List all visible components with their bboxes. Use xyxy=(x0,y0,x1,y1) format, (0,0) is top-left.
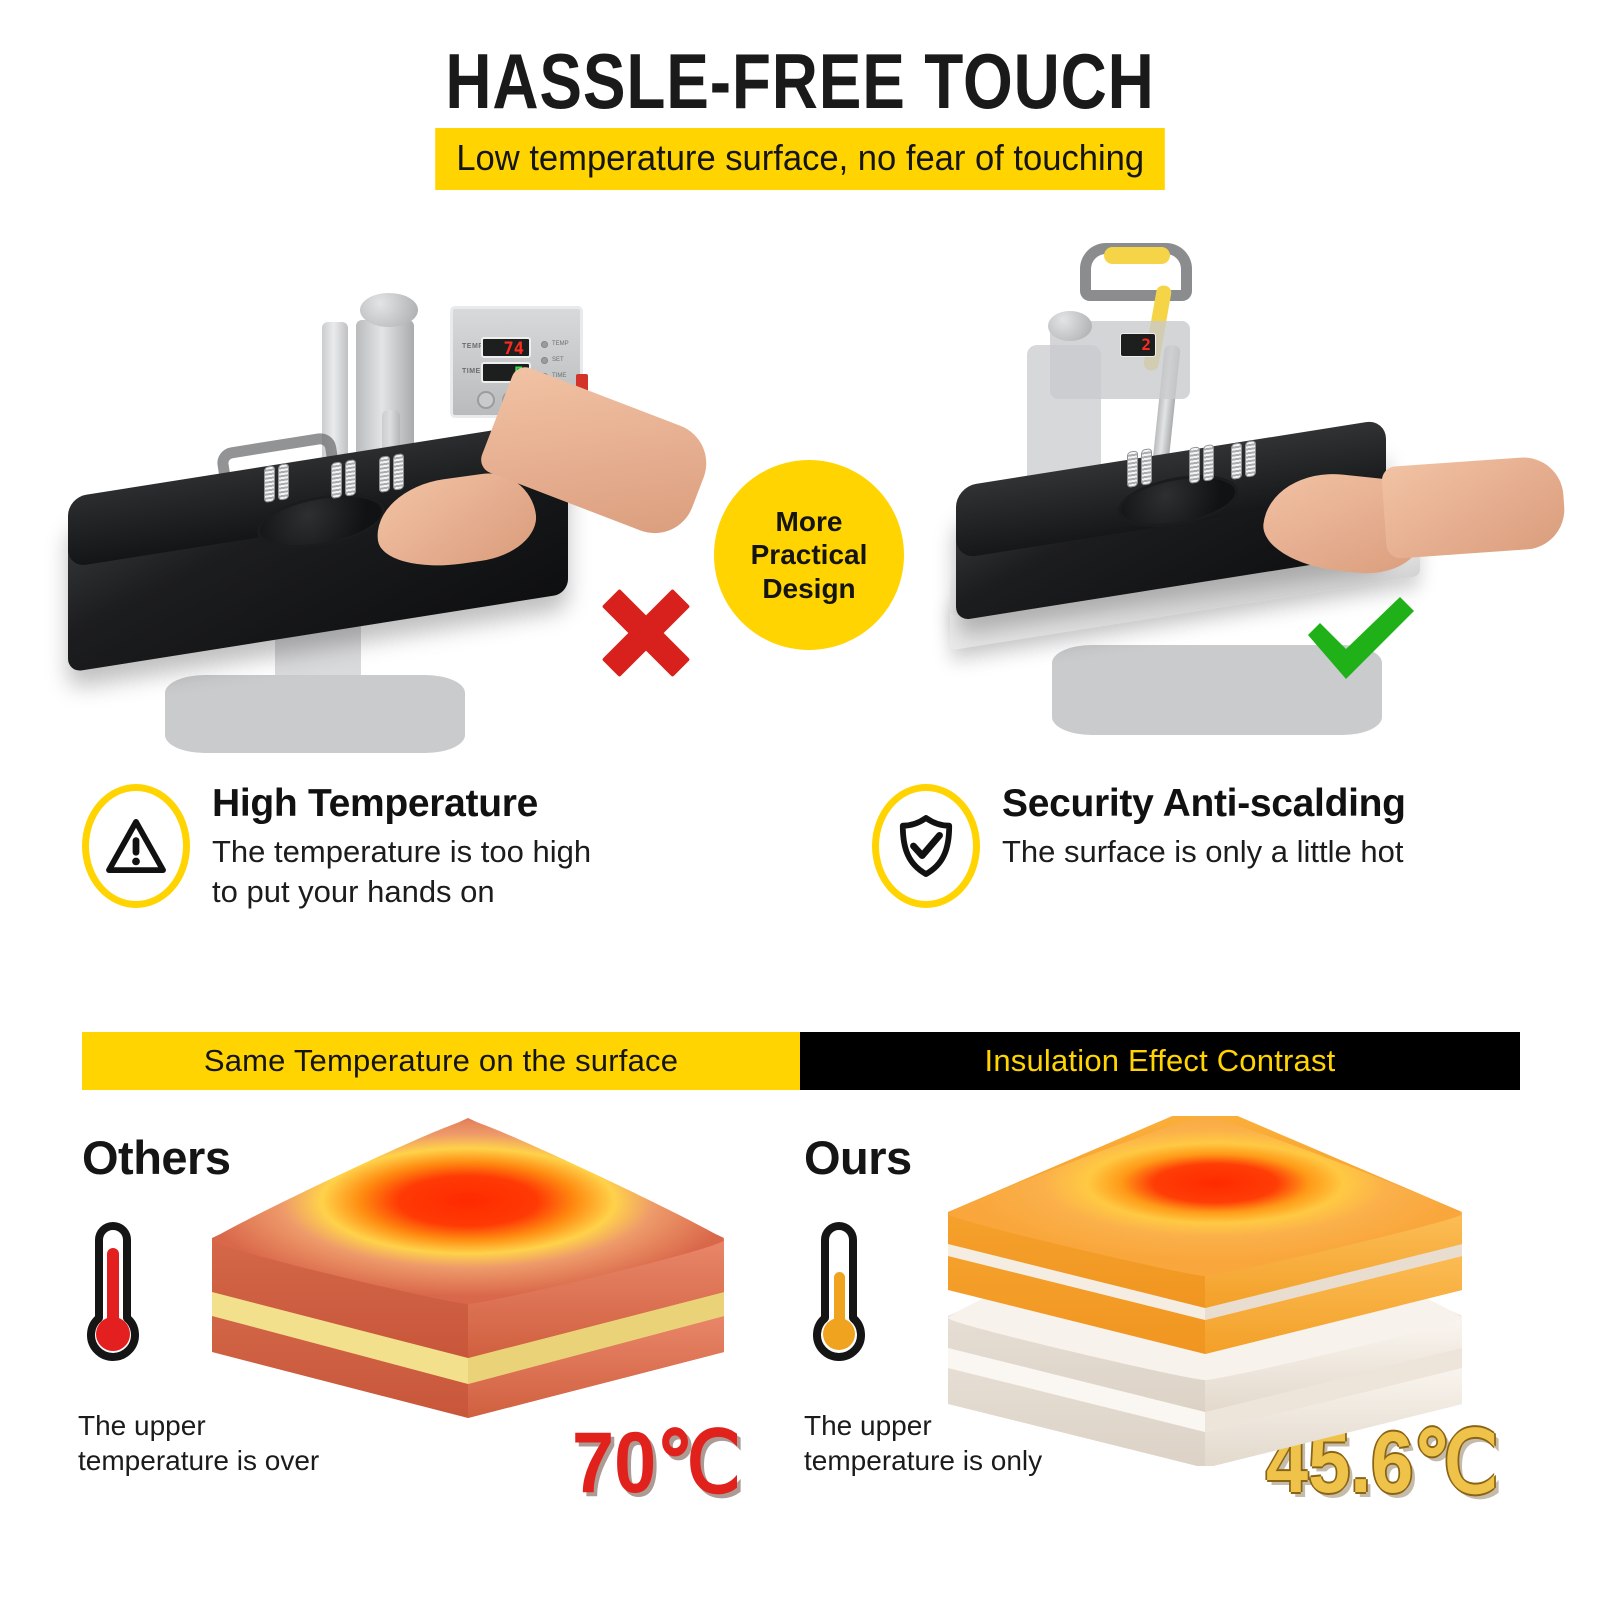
feature-title: Security Anti-scalding xyxy=(1002,784,1406,825)
banner-insulation-effect: Insulation Effect Contrast xyxy=(800,1032,1520,1090)
spring-screws-right-b xyxy=(1190,445,1213,483)
feature-row: High Temperature The temperature is too … xyxy=(0,778,1600,958)
x-mark-icon xyxy=(598,585,694,681)
comparison-banner-row: Same Temperature on the surface Insulati… xyxy=(82,1032,1520,1090)
indicator-set-label: SET xyxy=(552,357,564,363)
badge-line-2: Practical xyxy=(751,538,868,571)
hand-forearm-right xyxy=(1381,455,1567,559)
thermometer-icon-others xyxy=(78,1214,148,1364)
others-note-line2: temperature is over xyxy=(78,1443,319,1478)
indicator-temp-label: TEMP xyxy=(552,341,569,347)
thermometer-icon-ours xyxy=(804,1214,874,1364)
heat-plate-others xyxy=(168,1118,768,1448)
comparison-others: Others The upper temperature is over 70℃ xyxy=(0,1108,800,1578)
lever-grip-yellow xyxy=(1104,247,1170,264)
control-time-label: TIME xyxy=(462,368,481,375)
subtitle-banner-wrap: Low temperature surface, no fear of touc… xyxy=(0,128,1600,190)
pressure-knob-icon-right xyxy=(1048,311,1092,341)
feature-desc-line1: The surface is only a little hot xyxy=(1002,832,1406,872)
ours-label: Ours xyxy=(804,1130,912,1185)
spring-screws-right-c xyxy=(1232,441,1255,479)
check-mark-icon xyxy=(1300,591,1420,687)
photo-comparison-row: TEMP TIME 74 5 TEMP SET TIME xyxy=(0,215,1600,775)
machine-left-competitor: TEMP TIME 74 5 TEMP SET TIME xyxy=(60,260,670,770)
warning-triangle-icon xyxy=(82,784,190,908)
spring-screws-left xyxy=(265,464,288,502)
heat-plate-ours xyxy=(900,1116,1510,1466)
indicator-temp-led xyxy=(541,341,548,348)
page-title: HASSLE-FREE TOUCH xyxy=(144,42,1456,120)
pressure-knob-icon xyxy=(360,293,418,327)
feature-text-block-right: Security Anti-scalding The surface is on… xyxy=(1002,784,1406,872)
spring-screws-right-a xyxy=(1128,449,1151,487)
feature-desc-line2: to put your hands on xyxy=(212,872,591,912)
mini-temp-display: 2 xyxy=(1120,333,1156,357)
feature-text-block-left: High Temperature The temperature is too … xyxy=(212,784,591,911)
feature-title: High Temperature xyxy=(212,784,591,825)
temp-display: 74 xyxy=(481,337,531,358)
spring-screws-far xyxy=(380,454,403,492)
badge-line-1: More xyxy=(751,505,868,538)
center-badge: More Practical Design xyxy=(714,460,904,650)
shield-check-icon xyxy=(872,784,980,908)
badge-line-3: Design xyxy=(751,572,868,605)
machine-right-vevor: 2 xyxy=(932,225,1552,770)
infographic-page: HASSLE-FREE TOUCH Low temperature surfac… xyxy=(0,0,1600,1600)
spring-screws-right xyxy=(332,460,355,498)
comparison-ours: Ours The upper temperature is only 45.6℃ xyxy=(800,1108,1600,1578)
subtitle-banner: Low temperature surface, no fear of touc… xyxy=(435,128,1165,190)
feature-security-anti-scalding: Security Anti-scalding The surface is on… xyxy=(872,784,1406,908)
indicator-set-led xyxy=(541,357,548,364)
feature-high-temperature: High Temperature The temperature is too … xyxy=(82,784,591,911)
control-button-minus[interactable] xyxy=(477,391,495,409)
feature-desc-line1: The temperature is too high xyxy=(212,832,591,872)
banner-same-temperature: Same Temperature on the surface xyxy=(82,1032,800,1090)
bottom-comparison: Others The upper temperature is over 70℃ xyxy=(0,1108,1600,1578)
